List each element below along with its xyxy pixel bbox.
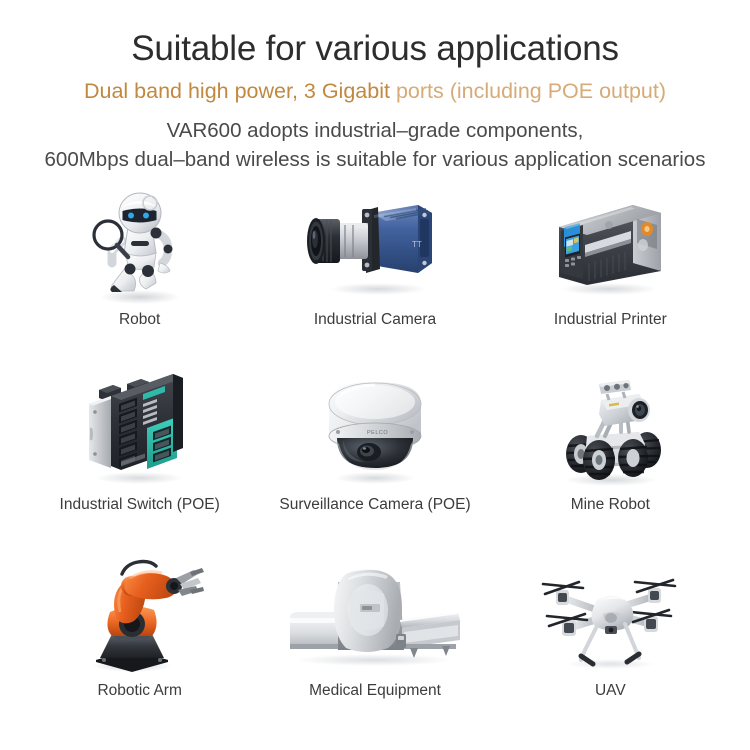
subtitle-part-one: Dual band high power, 3 Gigabit [84, 79, 390, 103]
caption-industrial-camera: Industrial Camera [314, 311, 436, 330]
description-paragraph: VAR600 adopts industrial–grade component… [0, 116, 750, 174]
grid-item-medical-equipment: Medical Equipment [257, 556, 492, 742]
industrial-printer-icon [493, 185, 728, 305]
robotic-arm-icon [22, 556, 257, 676]
robot-icon [22, 185, 257, 305]
description-line-1: VAR600 adopts industrial–grade component… [0, 116, 750, 145]
industrial-camera-icon: TT [257, 185, 492, 305]
grid-item-industrial-switch: Industrial Switch (POE) [22, 370, 257, 556]
grid-item-mine-robot: Mine Robot [493, 370, 728, 556]
grid-item-industrial-printer: Industrial Printer [493, 185, 728, 371]
caption-robotic-arm: Robotic Arm [97, 682, 181, 701]
grid-item-uav: UAV [493, 556, 728, 742]
description-line-2: 600Mbps dual–band wireless is suitable f… [0, 145, 750, 174]
svg-text:TT: TT [412, 240, 422, 249]
caption-industrial-switch: Industrial Switch (POE) [60, 496, 220, 515]
application-scenarios-page: Suitable for various applications Dual b… [0, 0, 750, 750]
caption-robot: Robot [119, 311, 160, 330]
applications-grid: Robot [0, 175, 750, 750]
dome-camera-icon: PELCO [257, 370, 492, 490]
caption-mine-robot: Mine Robot [571, 496, 650, 515]
grid-item-robotic-arm: Robotic Arm [22, 556, 257, 742]
grid-item-robot: Robot [22, 185, 257, 371]
grid-item-industrial-camera: TT [257, 185, 492, 371]
caption-uav: UAV [595, 682, 626, 701]
header-block: Suitable for various applications Dual b… [0, 0, 750, 175]
grid-item-surveillance-camera: PELCO Surveillance Camera (POE) [257, 370, 492, 556]
caption-industrial-printer: Industrial Printer [554, 311, 667, 330]
caption-medical-equipment: Medical Equipment [309, 682, 441, 701]
medical-scanner-icon [257, 556, 492, 676]
mine-robot-icon [493, 370, 728, 490]
industrial-switch-icon [22, 370, 257, 490]
caption-surveillance-camera: Surveillance Camera (POE) [279, 496, 470, 515]
subtitle-part-two: ports (including POE output) [390, 79, 666, 103]
svg-text:PELCO: PELCO [367, 430, 388, 436]
page-title: Suitable for various applications [0, 31, 750, 68]
uav-drone-icon [493, 556, 728, 676]
page-subtitle: Dual band high power, 3 Gigabit ports (i… [0, 80, 750, 103]
